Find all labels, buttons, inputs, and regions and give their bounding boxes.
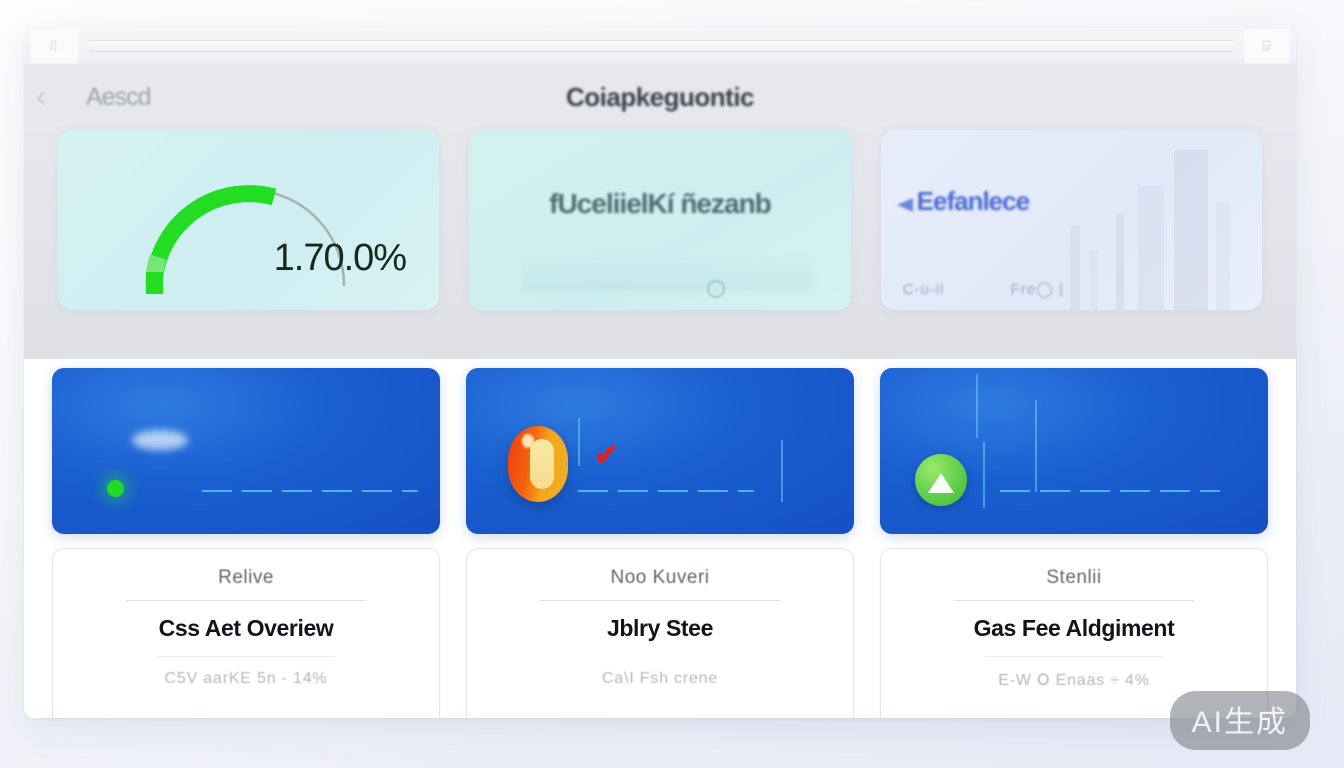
divider [540,600,779,601]
info-card-row: Relive Css Aet Overiew C5V aarKE 5n - 14… [24,534,1296,718]
page-header: ‹ Aescd Coiapkeguontic [24,64,1296,130]
toolbar-right-icon: ⌸ [1263,38,1272,54]
toolbar-left-icon: ⌷ [50,38,59,54]
banner-3-dashed-line [1000,490,1220,492]
info-card-1-title: Css Aet Overiew [159,615,334,642]
info-card-2-eyebrow: Noo Kuveri [611,567,710,589]
blue-card-heading: Eefanlece [917,186,1029,217]
blue-banner-row: ✔ [24,359,1296,534]
info-card-1-eyebrow: Relive [218,567,274,589]
info-card-2-subtitle: Ca\I Fsh crene [602,670,718,688]
banner-3-tick-2 [983,442,985,508]
capsule-icon-highlight [522,434,534,448]
address-bar-input[interactable] [88,40,1234,52]
banner-2-tick-2 [781,440,783,502]
teal-card-heading: fUceliielKí ñezanb [469,188,850,220]
page-title: Coiapkeguontic [24,82,1296,113]
teal-metric-card[interactable]: fUceliielKí ñezanb [469,130,850,310]
divider [157,656,335,657]
blue-ghost-card[interactable]: Eefanlece C-u-il Fre◯ | [881,130,1262,310]
divider [954,600,1193,601]
blue-card-footer-label-1: C-u-il [903,281,945,298]
gauge-end-cap [146,272,163,294]
green-status-dot [107,480,124,497]
teal-card-circle-icon [707,280,725,298]
green-flask-badge [915,454,967,506]
info-card-3-eyebrow: Stenlii [1046,567,1101,589]
banner-1-dashed-line [202,490,418,492]
blue-card-footer-label-2: Fre◯ | [1011,280,1064,298]
toolbar-left-icon-button[interactable]: ⌷ [30,29,78,63]
banner-3-tick-1 [976,374,978,438]
top-section-panel: ‹ Aescd Coiapkeguontic 1.70.0% [24,64,1296,359]
blue-card-arrow-icon [897,198,913,212]
banner-3-tick-3 [1035,400,1037,492]
gauge-value-label: 1.70.0% [274,237,406,280]
info-card-2-title: Jblry Stee [607,615,713,642]
info-card-1[interactable]: Relive Css Aet Overiew C5V aarKE 5n - 14… [52,548,440,718]
banner-2-dashed-line [578,490,754,492]
blue-banner-3[interactable] [880,368,1268,534]
cloud-icon [132,430,188,450]
bottom-section-panel: ✔ Relive Css Aet Overiew [24,359,1296,718]
gauge-card[interactable]: 1.70.0% [58,130,439,310]
info-card-2[interactable]: Noo Kuveri Jblry Stee Ca\I Fsh crene [466,548,854,718]
capsule-app-icon [508,426,568,502]
top-card-row: 1.70.0% fUceliielKí ñezanb [24,130,1296,310]
ai-generated-watermark: AI生成 [1170,691,1310,750]
flask-icon [928,473,954,493]
blue-banner-1[interactable] [52,368,440,534]
toolbar-right-icon-button[interactable]: ⌸ [1244,29,1290,63]
red-check-icon: ✔ [594,446,626,468]
browser-toolbar: ⌷ ⌸ [24,28,1296,64]
teal-card-ghost-chart [523,238,813,292]
blue-card-bar-chart [1062,140,1262,310]
blue-banner-2[interactable]: ✔ [466,368,854,534]
divider [571,656,749,657]
info-card-3-title: Gas Fee Aldgiment [974,615,1175,642]
info-card-1-subtitle: C5V aarKE 5n - 14% [165,670,328,688]
gauge-chart: 1.70.0% [124,145,374,295]
app-window: ⌷ ⌸ ‹ Aescd Coiapkeguontic [24,28,1296,718]
gauge-progress-arc [154,194,274,285]
info-card-3-subtitle: E-W ꓳ Enaas ÷ 4% [998,670,1150,690]
divider [126,600,365,601]
banner-2-tick-1 [578,418,580,466]
divider [985,656,1163,657]
